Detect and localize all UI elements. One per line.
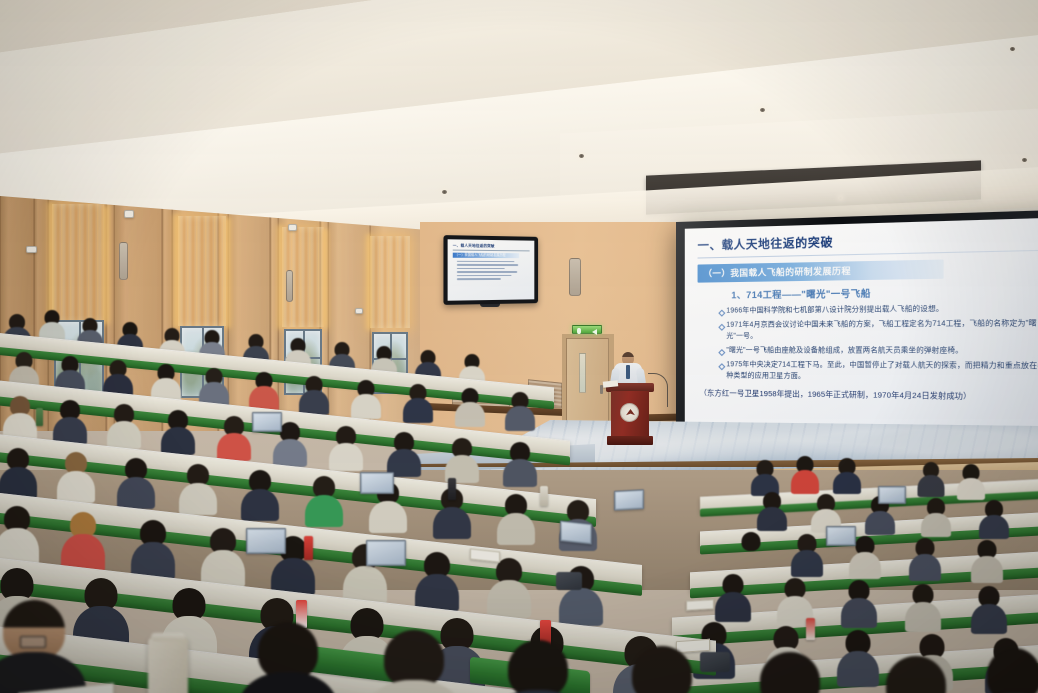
audience-member: [498, 494, 534, 544]
audience-member: [240, 622, 336, 693]
laptop[interactable]: [246, 528, 286, 554]
thermos-tumbler[interactable]: [148, 638, 188, 693]
laptop[interactable]: [614, 489, 644, 511]
audience-seating: [0, 300, 1038, 693]
audience-member: [108, 404, 140, 448]
audience-member: [922, 498, 950, 536]
person-torso: [487, 580, 531, 618]
person-torso: [241, 489, 279, 521]
laptop[interactable]: [560, 520, 592, 544]
person-torso: [909, 554, 941, 581]
person-head: [886, 656, 946, 693]
wall-mounted-tv[interactable]: 一、载人天地往返的突破 （一）我国载人飞船的研制发展历程: [443, 235, 538, 305]
person-torso: [455, 402, 485, 427]
person-torso: [957, 478, 985, 500]
person-torso: [918, 475, 945, 497]
audience-member: [614, 646, 710, 693]
person-torso: [497, 513, 535, 545]
person-torso: [238, 672, 338, 693]
eyeglasses-icon: [20, 636, 46, 648]
audience-member: [980, 500, 1008, 538]
audience-member: [456, 388, 484, 426]
wall-speaker: [286, 270, 293, 302]
person-torso: [971, 604, 1007, 634]
person-torso: [179, 483, 217, 515]
audience-member: [4, 396, 36, 440]
person-torso: [791, 470, 819, 494]
audience-member: [918, 462, 944, 496]
lecture-hall-scene: 一、载人天地往返的突破 （一）我国载人飞船的研制发展历程 一、载人天地往返的突破…: [0, 0, 1038, 693]
audience-member: [62, 512, 104, 570]
audience-member: [972, 586, 1006, 632]
audience-member: [792, 534, 822, 576]
audience-member: [180, 464, 216, 514]
person-torso: [833, 472, 861, 494]
audience-member: [752, 460, 778, 494]
downlight-icon: [579, 154, 584, 158]
audience-member: [366, 630, 462, 693]
audience-member: [490, 640, 586, 693]
laptop[interactable]: [360, 472, 394, 494]
audience-member: [242, 470, 278, 520]
person-torso: [503, 459, 537, 487]
audience-member: [742, 652, 838, 693]
audience-member: [132, 520, 174, 578]
downlight-icon: [1010, 47, 1015, 51]
sensor-box: [124, 210, 134, 218]
person-torso: [841, 598, 877, 628]
slide-subtitle: 1、714工程——"曙光"一号飞船: [731, 284, 1038, 302]
audience-member: [834, 458, 860, 492]
person-torso: [905, 602, 941, 632]
audience-member: [736, 532, 766, 574]
tv-text-line: [457, 271, 517, 272]
audience-member: [416, 552, 458, 610]
audience-member: [0, 506, 38, 564]
slide-section-band: （一）我国载人飞船的研制发展历程: [698, 259, 945, 282]
tv-text-line: [457, 268, 505, 269]
downlight-icon: [760, 108, 765, 112]
audience-member: [758, 492, 786, 530]
backpack[interactable]: [700, 652, 730, 672]
audience-member: [792, 456, 818, 492]
ceiling: [0, 0, 1038, 232]
water-bottle[interactable]: [540, 486, 548, 506]
person-torso: [305, 495, 343, 527]
person-head: [508, 640, 568, 693]
audience-member: [404, 384, 432, 422]
audience-member: [504, 442, 536, 486]
downlight-icon: [442, 190, 447, 194]
sensor-box: [288, 224, 297, 231]
laptop[interactable]: [252, 412, 282, 432]
audience-member: [388, 432, 420, 476]
laptop[interactable]: [878, 486, 906, 504]
backpack[interactable]: [556, 572, 582, 590]
audience-member: [58, 452, 94, 502]
person-torso: [849, 552, 881, 579]
audience-member: [200, 368, 228, 406]
person-torso: [971, 556, 1003, 583]
audience-member: [868, 656, 964, 693]
person-torso: [329, 443, 363, 471]
audience-member: [958, 464, 984, 498]
person-torso: [715, 592, 751, 622]
audience-member: [446, 438, 478, 482]
person-torso: [107, 421, 141, 449]
audience-member: [488, 558, 530, 616]
audience-member: [910, 538, 940, 580]
person-head: [987, 648, 1038, 693]
tv-screen: 一、载人天地往返的突破 （一）我国载人飞船的研制发展历程: [448, 239, 535, 300]
person-torso: [921, 513, 951, 537]
person-torso: [117, 477, 155, 509]
tv-text-line: [457, 278, 501, 280]
person-torso: [299, 390, 329, 415]
person-torso: [791, 550, 823, 577]
tv-slide-title: 一、载人天地往返的突破: [453, 243, 530, 251]
person-torso: [351, 394, 381, 419]
person-torso: [865, 511, 895, 535]
audience-member: [202, 528, 244, 586]
person-torso: [217, 433, 251, 461]
notebook[interactable]: [686, 599, 714, 611]
audience-member: [330, 426, 362, 470]
person-head: [3, 600, 65, 660]
person-head: [632, 646, 692, 693]
person-head: [760, 652, 820, 693]
sensor-box: [26, 246, 37, 253]
laptop[interactable]: [826, 526, 856, 546]
person-torso: [364, 680, 464, 693]
person-torso: [433, 507, 471, 539]
person-torso: [273, 439, 307, 467]
person-torso: [979, 515, 1009, 539]
water-bottle[interactable]: [304, 536, 313, 560]
audience-member: [162, 410, 194, 454]
wall-speaker: [119, 242, 128, 280]
audience-member: [842, 580, 876, 626]
audience-member: [300, 376, 328, 414]
person-torso: [505, 406, 535, 431]
audience-member: [306, 476, 342, 526]
person-torso: [369, 501, 407, 533]
person-torso: [57, 471, 95, 503]
thermos-bottle[interactable]: [448, 478, 456, 500]
audience-member: [352, 380, 380, 418]
tv-text-line: [457, 275, 511, 277]
tv-slide-band: （一）我国载人飞船的研制发展历程: [453, 253, 519, 259]
audience-member: [716, 574, 750, 620]
laptop[interactable]: [366, 540, 406, 566]
tv-text-line: [457, 264, 519, 266]
person-torso: [559, 588, 603, 626]
audience-member: [218, 416, 250, 460]
front-wall-speaker: [569, 258, 581, 296]
audience-member: [250, 372, 278, 410]
water-bottle[interactable]: [806, 618, 815, 640]
audience-member: [506, 392, 534, 430]
slide-title: 一、载人天地往返的突破: [698, 228, 1038, 257]
audience-member: [118, 458, 154, 508]
tv-text-line: [457, 261, 514, 263]
downlight-icon: [1022, 158, 1027, 162]
person-torso: [161, 427, 195, 455]
audience-member: [906, 584, 940, 630]
audience-member: [0, 448, 36, 498]
water-bottle[interactable]: [36, 408, 43, 426]
person-torso: [735, 548, 767, 575]
person-torso: [757, 507, 787, 531]
audience-member: [972, 540, 1002, 582]
person-torso: [403, 398, 433, 423]
audience-member: [54, 400, 86, 444]
audience-member: [974, 648, 1038, 693]
